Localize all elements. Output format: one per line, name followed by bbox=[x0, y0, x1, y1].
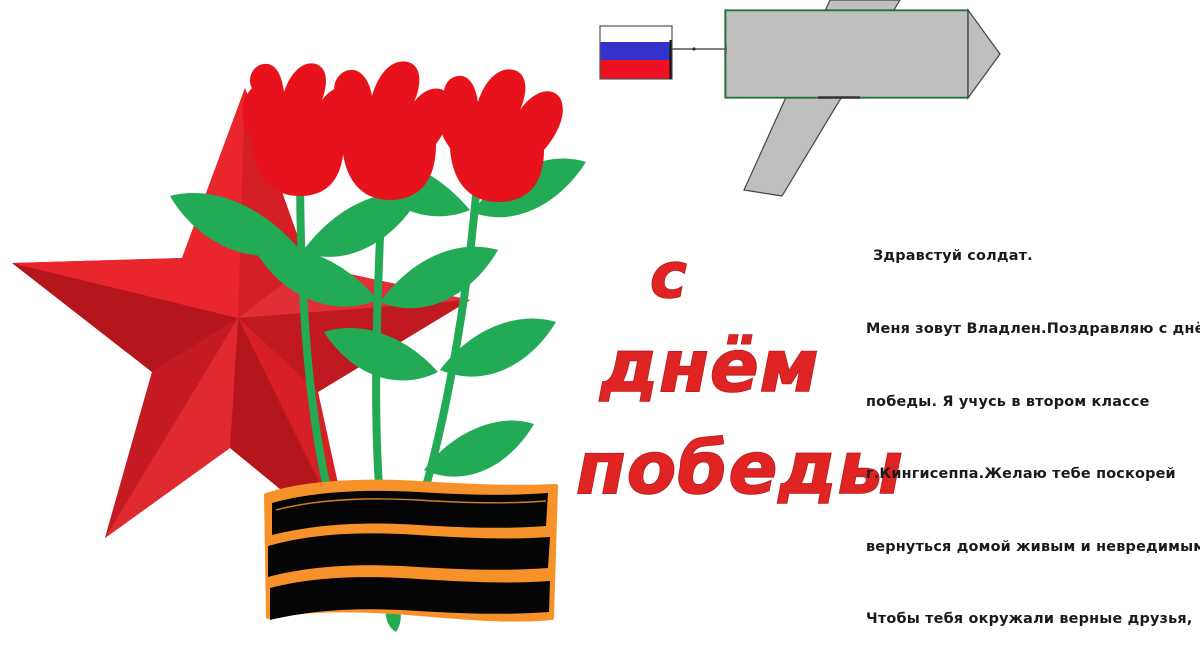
tulip-blossoms bbox=[242, 61, 563, 202]
letter-line: г.Кингисеппа.Желаю тебе поскорей bbox=[866, 462, 1186, 486]
st-george-ribbon bbox=[266, 482, 556, 620]
arrow-and-flag-graphic bbox=[600, 0, 1000, 196]
arrow-head bbox=[968, 10, 1000, 98]
letter-line: победы. Я учусь в втором классе bbox=[866, 390, 1186, 414]
flag-stripe-blue bbox=[600, 42, 672, 60]
flag-stripe-white bbox=[600, 26, 672, 42]
headline-line-3: победы bbox=[576, 432, 904, 504]
leaf-4 bbox=[380, 247, 498, 309]
headline-line-2: днём bbox=[600, 330, 820, 402]
letter-line: Меня зовут Владлен.Поздравляю с днём bbox=[866, 317, 1186, 341]
flag-stripe-red bbox=[600, 60, 672, 79]
arrow-body bbox=[725, 10, 968, 98]
victory-day-card: с днём победы Здравстуй солдат. Меня зов… bbox=[0, 0, 1200, 647]
headline-line-1: с bbox=[650, 245, 687, 307]
russian-flag bbox=[600, 26, 672, 79]
letter-line: Чтобы тебя окружали верные друзья, bbox=[866, 607, 1186, 631]
letter-line: Здравстуй солдат. bbox=[866, 244, 1186, 268]
connector-midpoint-dot bbox=[692, 47, 695, 50]
letter-line: вернуться домой живым и невредимым. bbox=[866, 535, 1186, 559]
letter-text-block: Здравстуй солдат. Меня зовут Владлен.Поз… bbox=[866, 196, 1186, 647]
